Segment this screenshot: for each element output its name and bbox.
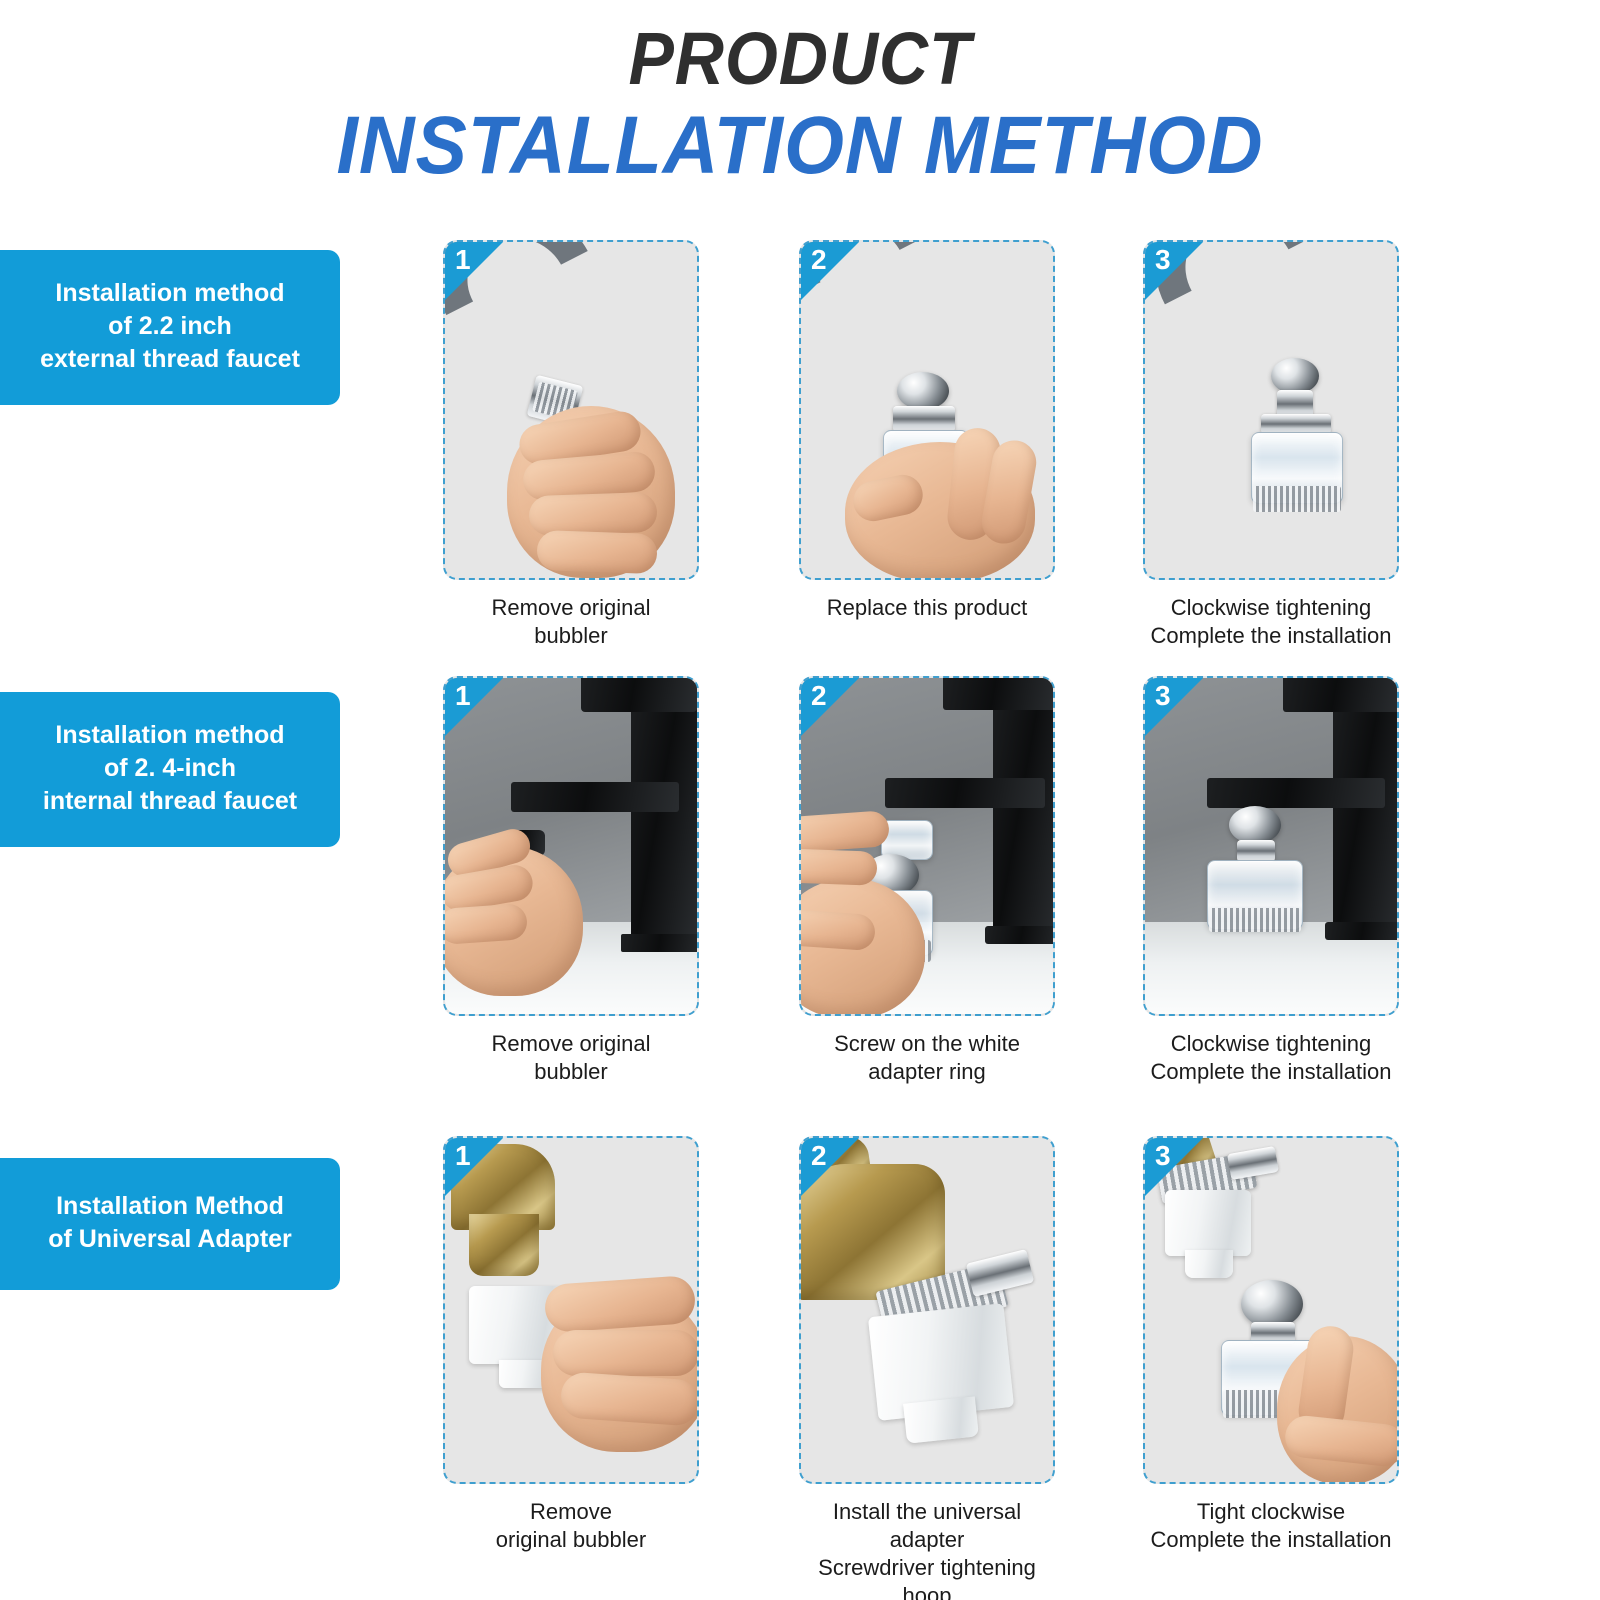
step-card-group: 1 Remove original bubbler — [440, 1128, 1440, 1568]
step-number: 2 — [811, 682, 827, 710]
clamp-screw-housing — [1227, 1146, 1279, 1180]
badge-triangle-icon — [801, 678, 859, 736]
step-card: 1 Remove original bubbler — [443, 1136, 699, 1554]
section-label-universal-adapter: Installation Method of Universal Adapter — [0, 1158, 340, 1290]
caption-line: Install the universal adapter — [799, 1498, 1055, 1554]
section-label-line: Installation Method — [14, 1190, 326, 1223]
step-caption: Remove original bubbler — [443, 1030, 699, 1086]
black-faucet-body — [631, 678, 697, 946]
badge-triangle-icon — [1145, 242, 1203, 300]
step-number-badge: 2 — [801, 242, 859, 300]
caption-line: Remove original — [443, 594, 699, 622]
step-caption: Remove original bubbler — [443, 1498, 699, 1554]
section-label-line: Installation method — [14, 719, 326, 752]
swivel-ball-joint — [1241, 1280, 1303, 1328]
badge-triangle-icon — [445, 1138, 503, 1196]
badge-triangle-icon — [445, 678, 503, 736]
caption-line: Complete the installation — [1143, 1058, 1399, 1086]
step-number-badge: 2 — [801, 678, 859, 736]
faucet-base — [621, 934, 699, 952]
section-internal-thread-faucet: Installation method of 2. 4-inch interna… — [0, 668, 1600, 1108]
caption-line: Screw on the white — [799, 1030, 1055, 1058]
white-adapter-thread — [1185, 1250, 1233, 1278]
badge-triangle-icon — [1145, 678, 1203, 736]
caption-line: Tight clockwise — [1143, 1498, 1399, 1526]
chrome-collar — [893, 406, 955, 432]
step-figure: 3 — [1143, 1136, 1399, 1484]
caption-line: Clockwise tightening — [1143, 1030, 1399, 1058]
finger — [560, 1371, 699, 1427]
caption-line: Complete the installation — [1143, 1526, 1399, 1554]
black-faucet-top — [943, 676, 1055, 710]
infographic-page: PRODUCT INSTALLATION METHOD Installation… — [0, 0, 1600, 1600]
step-caption: Replace this product — [799, 594, 1055, 622]
title-line-product: PRODUCT — [64, 18, 1536, 101]
step-card: 3 Clockwise tightening Complete the inst… — [1143, 240, 1399, 650]
caption-line: adapter ring — [799, 1058, 1055, 1086]
step-caption: Screw on the white adapter ring — [799, 1030, 1055, 1086]
step-figure: 1 — [443, 676, 699, 1016]
section-label-external-thread: Installation method of 2.2 inch external… — [0, 250, 340, 405]
caption-line: bubbler — [443, 1058, 699, 1086]
step-figure: 2 — [799, 676, 1055, 1016]
step-figure: 1 — [443, 1136, 699, 1484]
chrome-neck — [1237, 840, 1275, 862]
badge-triangle-icon — [801, 242, 859, 300]
swivel-ball-joint — [1271, 358, 1319, 394]
step-caption: Clockwise tightening Complete the instal… — [1143, 594, 1399, 650]
step-number-badge: 3 — [1145, 242, 1203, 300]
step-card: 2 Replace this product — [799, 240, 1055, 622]
section-label-line: of Universal Adapter — [14, 1223, 326, 1256]
black-faucet-top — [581, 676, 697, 712]
caption-line: Complete the installation — [1143, 622, 1399, 650]
step-card: 3 — [1143, 1136, 1399, 1554]
product-ribs — [1253, 486, 1341, 512]
chrome-collar — [1261, 414, 1331, 434]
section-label-line: of 2.2 inch — [14, 310, 326, 343]
caption-line: Remove — [443, 1498, 699, 1526]
finger — [553, 1330, 699, 1376]
page-title: PRODUCT INSTALLATION METHOD — [0, 0, 1600, 191]
step-number-badge: 1 — [445, 678, 503, 736]
product-ribs — [1209, 908, 1301, 932]
title-line-installation-method: INSTALLATION METHOD — [48, 101, 1552, 191]
section-label-line: external thread faucet — [14, 343, 326, 376]
step-caption: Install the universal adapter Screwdrive… — [799, 1498, 1055, 1600]
step-number-badge: 2 — [801, 1138, 859, 1196]
step-card: 1 Remove original bubbler — [443, 240, 699, 650]
step-card-group: 1 Remove original bubbler — [440, 232, 1440, 672]
black-faucet-lever — [511, 782, 679, 812]
black-faucet-lever — [885, 778, 1045, 808]
caption-line: Screwdriver tightening hoop — [799, 1554, 1055, 1600]
section-external-thread-faucet: Installation method of 2.2 inch external… — [0, 232, 1600, 672]
swivel-ball-joint — [897, 372, 949, 410]
faucet-base — [985, 926, 1055, 944]
step-card: 2 Install the universal adapter Screwdri… — [799, 1136, 1055, 1600]
step-figure: 1 — [443, 240, 699, 580]
black-faucet-top — [1283, 676, 1399, 712]
step-number-badge: 1 — [445, 242, 503, 300]
step-number: 3 — [1155, 246, 1171, 274]
step-card: 3 Clockwi — [1143, 676, 1399, 1086]
badge-triangle-icon — [1145, 1138, 1203, 1196]
step-card: 1 — [443, 676, 699, 1086]
badge-triangle-icon — [801, 1138, 859, 1196]
step-caption: Clockwise tightening Complete the instal… — [1143, 1030, 1399, 1086]
white-adapter-thread — [903, 1396, 979, 1443]
section-label-line: internal thread faucet — [14, 785, 326, 818]
step-number: 1 — [455, 682, 471, 710]
step-figure: 2 — [799, 1136, 1055, 1484]
finger — [536, 530, 657, 574]
step-figure: 2 — [799, 240, 1055, 580]
step-number: 2 — [811, 246, 827, 274]
clamp-screw-housing — [966, 1249, 1034, 1297]
step-caption: Tight clockwise Complete the installatio… — [1143, 1498, 1399, 1554]
caption-line: Remove original — [443, 1030, 699, 1058]
step-number-badge: 3 — [1145, 678, 1203, 736]
section-label-line: of 2. 4-inch — [14, 752, 326, 785]
black-faucet-lever — [1207, 778, 1385, 808]
step-number-badge: 3 — [1145, 1138, 1203, 1196]
finger — [528, 492, 657, 536]
step-number: 1 — [455, 246, 471, 274]
finger — [799, 848, 878, 885]
finger — [799, 909, 876, 951]
step-number: 3 — [1155, 682, 1171, 710]
section-label-line: Installation method — [14, 277, 326, 310]
swivel-ball-joint — [1229, 806, 1281, 844]
step-number: 3 — [1155, 1142, 1171, 1170]
step-card-group: 1 — [440, 668, 1440, 1108]
badge-triangle-icon — [445, 242, 503, 300]
section-label-internal-thread: Installation method of 2. 4-inch interna… — [0, 692, 340, 847]
caption-line: Replace this product — [799, 594, 1055, 622]
step-card: 2 — [799, 676, 1055, 1086]
step-number-badge: 1 — [445, 1138, 503, 1196]
faucet-base — [1325, 922, 1399, 940]
step-number: 2 — [811, 1142, 827, 1170]
caption-line: original bubbler — [443, 1526, 699, 1554]
brass-faucet-spout — [469, 1214, 539, 1276]
caption-line: Clockwise tightening — [1143, 594, 1399, 622]
step-caption: Remove original bubbler — [443, 594, 699, 650]
white-adapter-illustration — [1165, 1190, 1251, 1256]
finger — [443, 903, 528, 945]
caption-line: bubbler — [443, 622, 699, 650]
step-number: 1 — [455, 1142, 471, 1170]
black-faucet-body — [993, 678, 1055, 940]
step-figure: 3 — [1143, 240, 1399, 580]
section-universal-adapter: Installation Method of Universal Adapter… — [0, 1128, 1600, 1568]
step-figure: 3 — [1143, 676, 1399, 1016]
